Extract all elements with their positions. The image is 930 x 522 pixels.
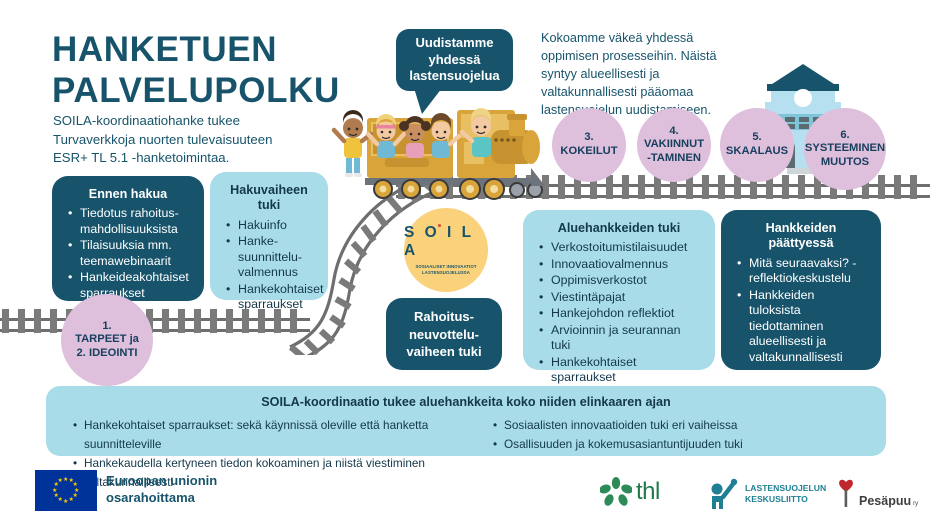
list-item: Hankekohtaiset sparraukset [551, 355, 703, 386]
card-list: Tiedotus rahoitus-mahdollisuuksista Tila… [64, 206, 192, 301]
stage-label: SYSTEEMINEN MUUTOS [805, 142, 885, 169]
stage-circle-1[interactable]: 1. TARPEET ja 2. IDEOINTI [61, 294, 153, 386]
card-title: Aluehankkeiden tuki [535, 221, 703, 236]
stage-circle-3[interactable]: 3. KOKEILUT [552, 108, 626, 182]
thl-wordmark: thl [636, 478, 660, 506]
rail-tie [210, 309, 217, 333]
railway-track-horizontal-left [0, 318, 310, 336]
stage-number: 3. [584, 131, 593, 145]
card-title: Hankkeiden päättyessä [733, 221, 869, 252]
stage-number: 4. [669, 125, 678, 139]
rail-tie [910, 175, 917, 199]
list-item: Hankkeiden tuloksista tiedottaminen alue… [749, 288, 869, 366]
list-item: Tilaisuuksia mm. teemawebinaarit [80, 238, 192, 269]
list-item: Mitä seuraavaksi? -reflektiokeskustelu [749, 256, 869, 287]
rail-tie [162, 309, 169, 333]
intro-paragraph: Kokoamme väkeä yhdessä oppimisen prosess… [541, 29, 756, 119]
pesapuu-suffix: ry [913, 501, 918, 507]
eu-star-icon: ★ [52, 488, 57, 494]
rail-tie [718, 175, 725, 199]
pesapuu-wordmark: Pesäpuu [859, 494, 911, 508]
stage-number: 1. [102, 320, 111, 334]
thl-flower-icon [600, 477, 632, 507]
eu-flag-icon: ★★★★★★★★★★★★ [35, 470, 97, 511]
stage-label: VAKIINNUT -TAMINEN [644, 138, 704, 165]
list-item: Arvioinnin ja seurannan tuki [551, 323, 703, 354]
rail-tie [258, 309, 265, 333]
rail-tie [878, 175, 885, 199]
page-subtitle: SOILA-koordinaatiohanke tukee Turvaverkk… [53, 112, 343, 168]
eu-star-icon: ★ [58, 478, 63, 484]
stage-label: TARPEET ja 2. IDEOINTI [75, 333, 139, 360]
card-hankkeiden-paattyessa[interactable]: Hankkeiden päättyessä Mitä seuraavaksi? … [721, 210, 881, 370]
pesapuu-logo: Pesäpuu ry [836, 478, 918, 508]
card-ennen-hakua[interactable]: Ennen hakua Tiedotus rahoitus-mahdollisu… [52, 176, 204, 301]
eu-star-icon: ★ [63, 499, 68, 505]
card-aluehankkeiden-tuki[interactable]: Aluehankkeiden tuki Verkostoitumistilais… [523, 210, 715, 370]
rail-tie [798, 175, 805, 199]
footer-band: SOILA-koordinaatio tukee aluehankkeita k… [46, 386, 886, 456]
stage-label: KOKEILUT [560, 145, 617, 159]
rail-tie [18, 309, 25, 333]
rail-tie [782, 175, 789, 199]
list-item: Viestintäpajat [551, 290, 703, 306]
rail-tie [638, 175, 645, 199]
eu-funding-text: Euroopan unionin osarahoittama [106, 473, 217, 507]
infographic-canvas: HANKETUEN PALVELUPOLKU SOILA-koordinaati… [0, 0, 930, 522]
list-item: Verkostoitumistilaisuudet [551, 240, 703, 256]
stage-circle-5[interactable]: 5. SKAALAUS [720, 108, 794, 182]
eu-star-icon: ★ [69, 497, 74, 503]
speech-bubble: Uudistamme yhdessä lastensuojelua [396, 29, 513, 91]
soila-logo-dot [438, 224, 441, 227]
soila-logo: S O I L A SOSIAALISET INNOVAATIOT LASTEN… [404, 208, 488, 292]
card-list: Verkostoitumistilaisuudet Innovaatiovalm… [535, 240, 703, 386]
footer-title: SOILA-koordinaatio tukee aluehankkeita k… [46, 395, 886, 409]
soila-logo-word: S O I L A [404, 224, 488, 260]
rail-tie [2, 309, 9, 333]
train-illustration [331, 96, 563, 208]
card-list: Mitä seuraavaksi? -reflektiokeskustelu H… [733, 256, 869, 366]
list-item: Osallisuuden ja kokemusasiantuntijuuden … [504, 435, 886, 454]
page-title: HANKETUEN PALVELUPOLKU [52, 30, 340, 111]
stage-circle-6[interactable]: 6. SYSTEEMINEN MUUTOS [804, 108, 886, 190]
list-item: Hankejohdon reflektiot [551, 306, 703, 322]
soila-logo-tagline: SOSIAALISET INNOVAATIOT LASTENSUOJELUSSA [415, 264, 476, 276]
speech-bubble-tail [414, 88, 442, 114]
rail-tie [606, 175, 613, 199]
pesapuu-tree-icon [836, 478, 856, 508]
stage-number: 5. [752, 131, 761, 145]
lsk-wordmark: LASTENSUOJELUN KESKUSLIITTO [745, 483, 826, 504]
rail-tie [734, 175, 741, 199]
rail-tie [894, 175, 901, 199]
thl-logo: thl [600, 477, 660, 507]
stage-label: SKAALAUS [726, 145, 788, 159]
rail-tie [242, 309, 249, 333]
person-figure-icon [706, 478, 740, 510]
card-title: Ennen hakua [64, 187, 192, 202]
rail-tie [50, 309, 57, 333]
lastensuojelun-keskusliitto-logo: LASTENSUOJELUN KESKUSLIITTO [706, 478, 826, 510]
list-item: Tiedotus rahoitus-mahdollisuuksista [80, 206, 192, 237]
list-item: Hankekohtaiset sparraukset: sekä käynnis… [84, 416, 466, 454]
rail-tie [34, 309, 41, 333]
list-item: Oppimisverkostot [551, 273, 703, 289]
list-item: Sosiaalisten innovaatioiden tuki eri vai… [504, 416, 886, 435]
rail-tie [178, 309, 185, 333]
stage-circle-4[interactable]: 4. VAKIINNUT -TAMINEN [637, 108, 711, 182]
rail-tie [194, 309, 201, 333]
rail-tie [622, 175, 629, 199]
rail-tie [226, 309, 233, 333]
list-item: Innovaatiovalmennus [551, 257, 703, 273]
eu-star-icon: ★ [54, 493, 59, 499]
rail-tie [702, 175, 709, 199]
stage-number: 6. [840, 129, 849, 143]
